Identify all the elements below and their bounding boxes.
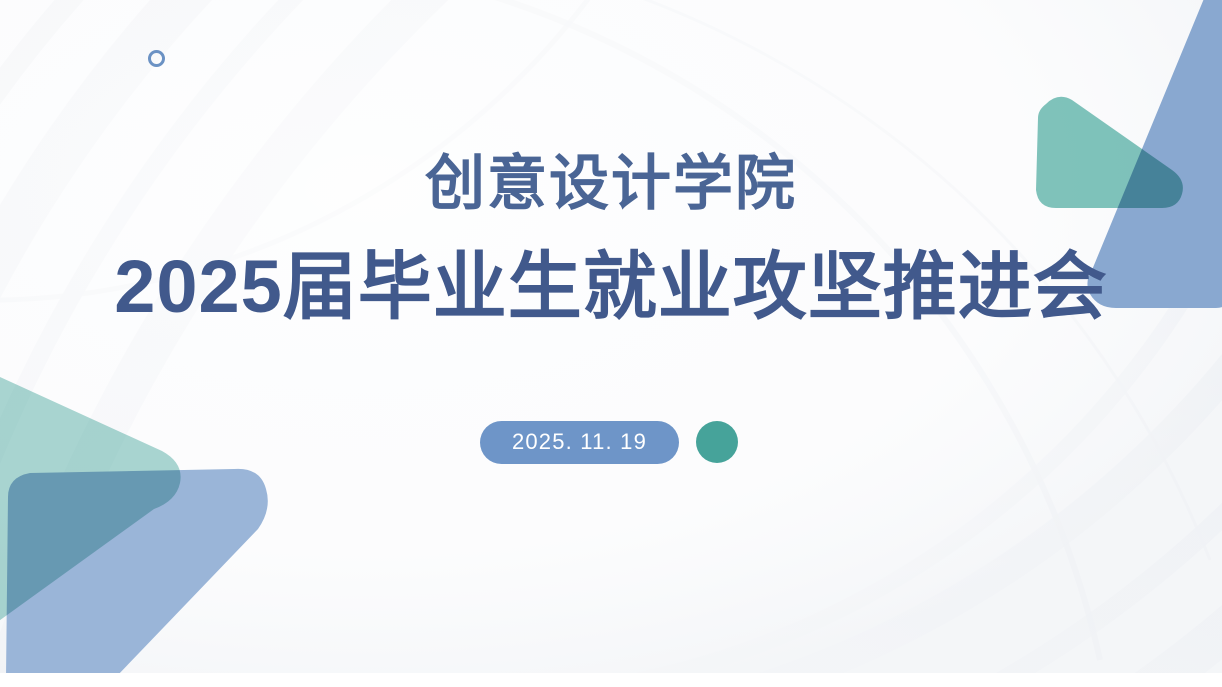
bottom-white-strip — [0, 673, 1222, 687]
slide-subtitle: 2025届毕业生就业攻坚推进会 — [114, 247, 1108, 327]
date-badge: 2025. 11. 19 — [480, 421, 679, 464]
presentation-slide: 创意设计学院 2025届毕业生就业攻坚推进会 2025. 11. 19 — [0, 0, 1222, 673]
slide-text-block: 创意设计学院 2025届毕业生就业攻坚推进会 2025. 11. 19 — [0, 0, 1222, 673]
date-row: 2025. 11. 19 — [480, 421, 738, 464]
teal-dot-icon — [696, 421, 738, 463]
slide-title: 创意设计学院 — [425, 152, 797, 217]
